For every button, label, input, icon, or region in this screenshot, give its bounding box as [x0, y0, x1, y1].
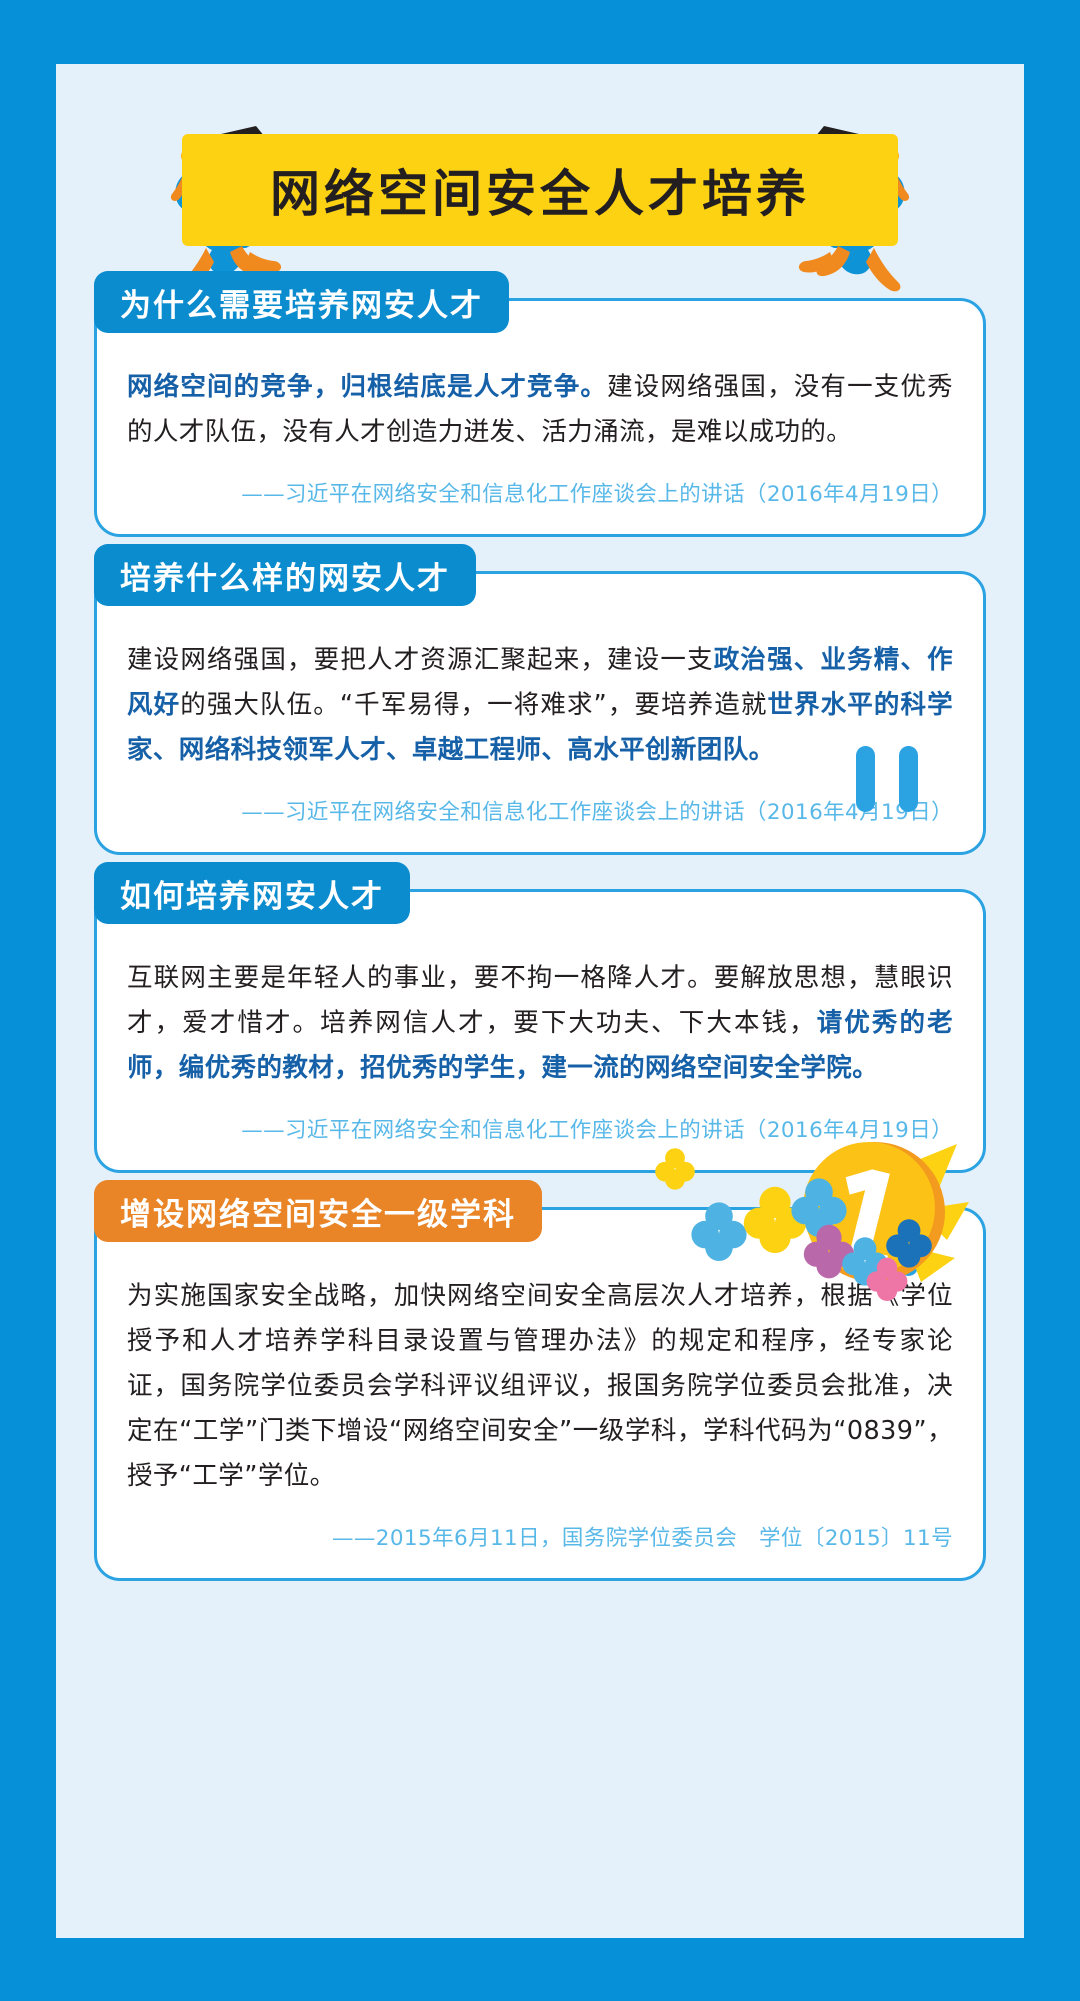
card-why-train-talent: 为什么需要培养网安人才 网络空间的竞争，归根结底是人才竞争。建设网络强国，没有一… — [94, 298, 986, 537]
card-3-header-tab[interactable]: 如何培养网安人才 — [94, 862, 410, 924]
card-4-citation: ——2015年6月11日，国务院学位委员会 学位〔2015〕11号 — [127, 1521, 953, 1552]
card-4-header-tab[interactable]: 增设网络空间安全一级学科 — [94, 1180, 542, 1242]
card-2-paragraph: 建设网络强国，要把人才资源汇聚起来，建设一支政治强、业务精、作风好的强大队伍。“… — [127, 638, 953, 773]
card-2-citation: ——习近平在网络安全和信息化工作座谈会上的讲话（2016年4月19日） — [127, 795, 953, 826]
card-1-highlight: 网络空间的竞争，归根结底是人才竞争。 — [127, 372, 607, 402]
card-how-to-train-talent: 如何培养网安人才 互联网主要是年轻人的事业，要不拘一格降人才。要解放思想，慧眼识… — [94, 889, 986, 1173]
card-3-body: 互联网主要是年轻人的事业，要不拘一格降人才。要解放思想，慧眼识才，爱才惜才。培养… — [97, 892, 983, 1144]
card-4-body: 为实施国家安全战略，加快网络空间安全高层次人才培养，根据《学位授予和人才培养学科… — [97, 1210, 983, 1552]
banner-plate: 网络空间安全人才培养 — [182, 134, 898, 246]
card-4-title: 增设网络空间安全一级学科 — [120, 1189, 516, 1234]
card-4-paragraph: 为实施国家安全战略，加快网络空间安全高层次人才培养，根据《学位授予和人才培养学科… — [127, 1274, 953, 1499]
header-banner: 网络空间安全人才培养 — [56, 98, 1024, 298]
card-3-citation: ——习近平在网络安全和信息化工作座谈会上的讲话（2016年4月19日） — [127, 1113, 953, 1144]
card-2-title: 培养什么样的网安人才 — [120, 553, 450, 598]
connector-2 — [856, 1210, 918, 1276]
card-2-text-a: 建设网络强国，要把人才资源汇聚起来，建设一支 — [127, 645, 714, 675]
card-what-kind-of-talent: 培养什么样的网安人才 建设网络强国，要把人才资源汇聚起来，建设一支政治强、业务精… — [94, 571, 986, 855]
card-1-paragraph: 网络空间的竞争，归根结底是人才竞争。建设网络强国，没有一支优秀的人才队伍，没有人… — [127, 365, 953, 455]
card-2-body: 建设网络强国，要把人才资源汇聚起来，建设一支政治强、业务精、作风好的强大队伍。“… — [97, 574, 983, 826]
page-title: 网络空间安全人才培养 — [182, 134, 898, 246]
card-1-title: 为什么需要培养网安人才 — [120, 280, 483, 325]
cards-container: 为什么需要培养网安人才 网络空间的竞争，归根结底是人才竞争。建设网络强国，没有一… — [94, 298, 986, 1581]
card-new-first-level-discipline: 增设网络空间安全一级学科 为实施国家安全战略，加快网络空间安全高层次人才培养，根… — [94, 1207, 986, 1581]
connector-1 — [856, 746, 918, 812]
infographic-page: 网络空间安全人才培养 为什么需要培养网安人才 网络空间的竞争，归根结底是人才竞争… — [56, 64, 1024, 1938]
card-3-paragraph: 互联网主要是年轻人的事业，要不拘一格降人才。要解放思想，慧眼识才，爱才惜才。培养… — [127, 956, 953, 1091]
card-3-title: 如何培养网安人才 — [120, 871, 384, 916]
card-2-header-tab[interactable]: 培养什么样的网安人才 — [94, 544, 476, 606]
card-1-citation: ——习近平在网络安全和信息化工作座谈会上的讲话（2016年4月19日） — [127, 477, 953, 508]
card-2-text-b: 的强大队伍。“千军易得，一将难求”，要培养造就 — [180, 690, 767, 720]
card-1-header-tab[interactable]: 为什么需要培养网安人才 — [94, 271, 509, 333]
